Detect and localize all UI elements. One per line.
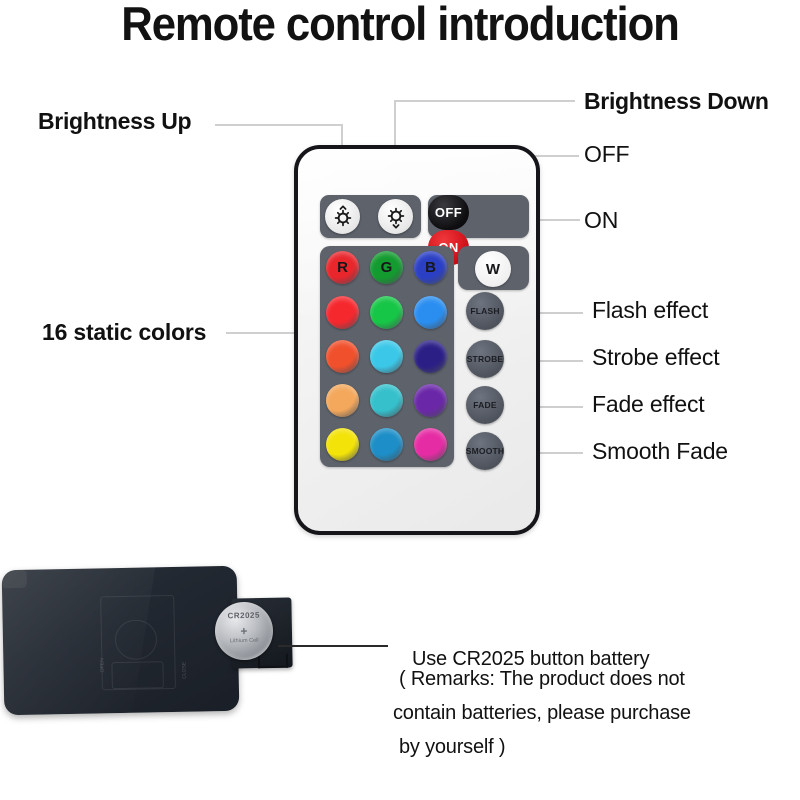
coin-cell-polarity: + (215, 623, 273, 638)
callout-fade: Fade effect (592, 393, 704, 416)
effect-button-smooth[interactable]: SMOOTH (466, 432, 504, 470)
effect-button-flash-label: FLASH (470, 306, 499, 316)
color-button-r2c1[interactable] (326, 296, 359, 329)
color-button-r[interactable]: R (326, 251, 359, 284)
sun-up-icon (330, 204, 356, 230)
coin-cell-sub: Lithium Cell (215, 637, 273, 644)
color-button-white[interactable]: W (475, 251, 511, 287)
color-button-r4c1[interactable] (326, 384, 359, 417)
effect-button-strobe[interactable]: STROBE (466, 340, 504, 378)
color-button-r3c2[interactable] (370, 340, 403, 373)
color-button-r5c1[interactable] (326, 428, 359, 461)
callout-smooth: Smooth Fade (592, 440, 728, 463)
page-root: Remote control introduction Brightness U… (0, 0, 800, 800)
power-button-pad: OFF ON (428, 195, 529, 238)
remote-back-case: OPEN CLOSE (2, 566, 240, 715)
battery-remark-line-2: contain batteries, please purchase (393, 702, 691, 725)
brightness-button-pad (320, 195, 421, 238)
page-title: Remote control introduction (28, 0, 772, 51)
effect-button-fade[interactable]: FADE (466, 386, 504, 424)
color-grid-pad: R G B (320, 246, 454, 467)
case-emboss-box (111, 661, 164, 689)
sun-down-icon (383, 204, 409, 230)
battery-tray-clip (258, 654, 288, 669)
leader-brightness-down-h (394, 100, 575, 102)
leader-on-h (538, 219, 580, 221)
white-button-pad: W (458, 246, 529, 290)
leader-battery-h (278, 645, 388, 647)
battery-remark-line-3: by yourself ) (399, 736, 505, 759)
color-button-r3c1[interactable] (326, 340, 359, 373)
battery-remark-line-1: ( Remarks: The product does not (399, 668, 685, 691)
color-button-r2c3[interactable] (414, 296, 447, 329)
color-button-g-label: G (370, 251, 403, 284)
power-off-button[interactable]: OFF (428, 195, 469, 230)
color-button-r4c3[interactable] (414, 384, 447, 417)
color-button-r4c2[interactable] (370, 384, 403, 417)
color-button-g[interactable]: G (370, 251, 403, 284)
case-micro-open: OPEN (99, 658, 105, 672)
callout-on: ON (584, 209, 618, 232)
effect-button-strobe-label: STROBE (467, 354, 504, 364)
remote-control-body: OFF ON W R G B (294, 145, 540, 535)
effect-button-fade-label: FADE (473, 400, 496, 410)
effect-button-flash[interactable]: FLASH (466, 292, 504, 330)
callout-off: OFF (584, 143, 629, 166)
leader-static-colors-h (226, 332, 301, 334)
callout-static-colors: 16 static colors (42, 321, 206, 344)
brightness-up-button[interactable] (325, 199, 360, 234)
effect-button-smooth-label: SMOOTH (466, 446, 505, 456)
color-button-b-label: B (414, 251, 447, 284)
leader-brightness-up-h (215, 124, 342, 126)
callout-brightness-up: Brightness Up (38, 110, 191, 133)
coin-cell-label: CR2025 (215, 610, 273, 620)
power-off-label: OFF (435, 205, 462, 220)
case-micro-close: CLOSE (181, 662, 187, 679)
callout-strobe: Strobe effect (592, 346, 719, 369)
color-button-r5c2[interactable] (370, 428, 403, 461)
color-button-r2c2[interactable] (370, 296, 403, 329)
color-button-r-label: R (326, 251, 359, 284)
brightness-down-button[interactable] (378, 199, 413, 234)
color-button-b[interactable]: B (414, 251, 447, 284)
color-button-r3c3[interactable] (414, 340, 447, 373)
color-button-white-label: W (475, 251, 511, 287)
callout-brightness-down: Brightness Down (584, 90, 769, 113)
callout-flash: Flash effect (592, 299, 708, 322)
color-button-r5c3[interactable] (414, 428, 447, 461)
